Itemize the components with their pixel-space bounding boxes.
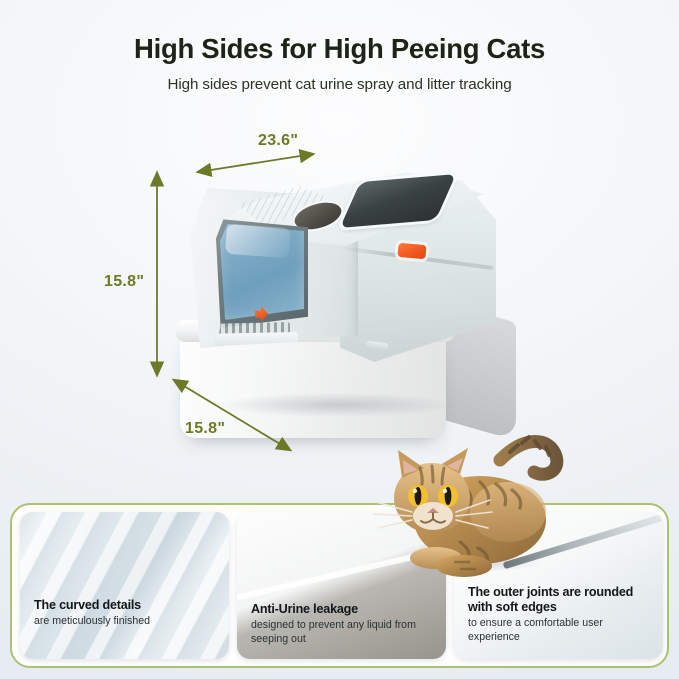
page-subtitle: High sides prevent cat urine spray and l… bbox=[0, 76, 679, 93]
feature-card-text: The curved details are meticulously fini… bbox=[34, 598, 219, 629]
feature-card-heading: The outer joints are rounded with soft e… bbox=[468, 585, 653, 616]
feature-card-text: The outer joints are rounded with soft e… bbox=[468, 585, 653, 645]
orange-side-latch bbox=[397, 243, 426, 259]
header: High Sides for High Peeing Cats High sid… bbox=[0, 34, 679, 93]
tabby-cat bbox=[368, 416, 578, 586]
infographic-page: High Sides for High Peeing Cats High sid… bbox=[0, 0, 679, 679]
product-stage: 23.6" 15.8" 15.8" bbox=[0, 120, 679, 490]
feature-card-sub: are meticulously finished bbox=[34, 615, 219, 629]
feature-card-text: Anti-Urine leakage designed to prevent a… bbox=[251, 602, 436, 647]
feature-card-heading: The curved details bbox=[34, 598, 219, 613]
feature-card-heading: Anti-Urine leakage bbox=[251, 602, 436, 617]
dimension-width-label: 23.6" bbox=[258, 132, 298, 150]
feature-card-curved-details[interactable]: The curved details are meticulously fini… bbox=[20, 512, 229, 659]
dimension-depth-label: 15.8" bbox=[185, 420, 225, 438]
door-highlight bbox=[225, 224, 291, 258]
litter-box-hood bbox=[190, 180, 490, 350]
dimension-height-label: 15.8" bbox=[104, 273, 144, 291]
feature-card-sub: to ensure a comfortable user experience bbox=[468, 617, 653, 645]
entry-step-ledge bbox=[214, 332, 298, 346]
page-title: High Sides for High Peeing Cats bbox=[0, 34, 679, 64]
feature-card-sub: designed to prevent any liquid from seep… bbox=[251, 619, 436, 647]
